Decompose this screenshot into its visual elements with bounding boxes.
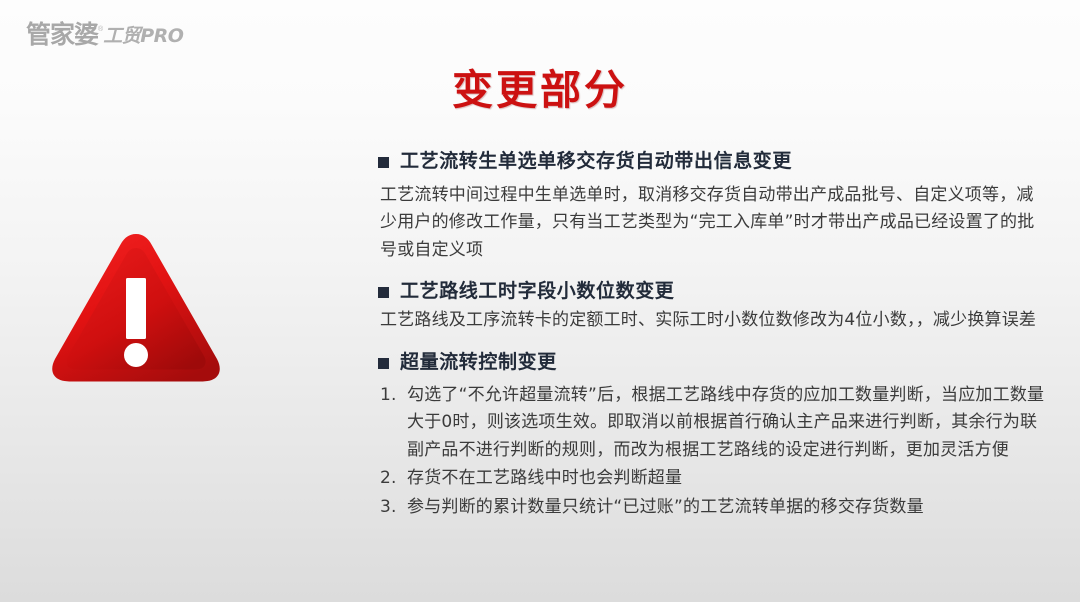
brand-suffix: 工贸PRO <box>103 27 183 46</box>
square-bullet-icon <box>378 287 389 298</box>
section-overflow-control: 超量流转控制变更 勾选了“不允许超量流转”后，根据工艺路线中存货的应加工数量判断… <box>378 351 1050 521</box>
brand-logo: 管家婆 ® 工贸PRO <box>26 22 183 47</box>
square-bullet-icon <box>378 358 389 369</box>
list-item: 存货不在工艺路线中时也会判断超量 <box>380 465 1050 493</box>
section-heading: 超量流转控制变更 <box>400 351 557 374</box>
square-bullet-icon <box>378 157 389 168</box>
section-body: 工艺路线及工序流转卡的定额工时、实际工时小数位数修改为4位小数，，减少换算误差 <box>378 307 1050 335</box>
section-decimal-places: 工艺路线工时字段小数位数变更 工艺路线及工序流转卡的定额工时、实际工时小数位数修… <box>378 280 1050 334</box>
slide-content: 工艺流转生单选单移交存货自动带出信息变更 工艺流转中间过程中生单选单时，取消移交… <box>378 150 1050 523</box>
list-item: 参与判断的累计数量只统计“已过账”的工艺流转单据的移交存货数量 <box>380 494 1050 522</box>
section-heading-row: 超量流转控制变更 <box>378 351 1050 374</box>
section-process-transfer: 工艺流转生单选单移交存货自动带出信息变更 工艺流转中间过程中生单选单时，取消移交… <box>378 150 1050 264</box>
warning-triangle-icon <box>48 228 224 386</box>
list-item: 勾选了“不允许超量流转”后，根据工艺路线中存货的应加工数量判断，当应加工数量大于… <box>380 382 1050 465</box>
numbered-list: 勾选了“不允许超量流转”后，根据工艺路线中存货的应加工数量判断，当应加工数量大于… <box>378 382 1050 522</box>
section-heading-row: 工艺路线工时字段小数位数变更 <box>378 280 1050 303</box>
section-heading-row: 工艺流转生单选单移交存货自动带出信息变更 <box>378 150 1050 173</box>
brand-name-cn: 管家婆 <box>26 22 98 47</box>
page-title: 变更部分 <box>0 56 1080 116</box>
section-body: 工艺流转中间过程中生单选单时，取消移交存货自动带出产成品批号、自定义项等，减少用… <box>378 182 1050 265</box>
section-heading: 工艺流转生单选单移交存货自动带出信息变更 <box>400 150 792 173</box>
section-heading: 工艺路线工时字段小数位数变更 <box>400 280 674 303</box>
